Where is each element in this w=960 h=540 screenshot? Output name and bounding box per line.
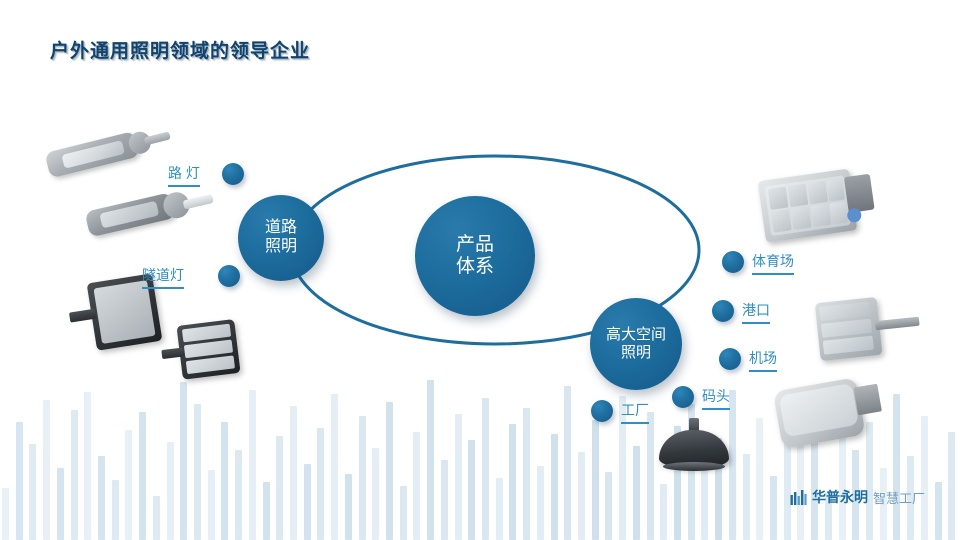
decor-bar (523, 408, 530, 540)
decor-bar (317, 428, 324, 540)
hub-highbay-line1: 高大空间 (606, 326, 666, 344)
decor-bar (441, 460, 448, 540)
decor-bar (372, 448, 379, 540)
decor-bar (948, 432, 955, 540)
decor-bar (592, 420, 599, 540)
decor-bar (605, 472, 612, 540)
hub-road-line2: 照明 (265, 238, 297, 257)
hub-road-lighting[interactable]: 道路 照明 (238, 195, 324, 281)
decor-bar (263, 482, 270, 540)
decor-bar (235, 450, 242, 540)
logo-brand-name: 华普永明 (812, 487, 868, 507)
decor-bar (551, 434, 558, 540)
decor-bar (304, 464, 311, 540)
label-tunnel-light[interactable]: 隧道灯 (142, 265, 184, 289)
decor-bar (496, 478, 503, 540)
decor-bar (482, 398, 489, 540)
decor-bar (756, 418, 763, 540)
hub-center-line2: 体系 (456, 256, 494, 278)
decor-bar (743, 454, 750, 540)
hub-highbay-line2: 照明 (606, 344, 666, 362)
decor-bar (180, 382, 187, 540)
decor-bar (935, 482, 942, 540)
decor-bar (455, 414, 462, 540)
node-tunnel-light[interactable] (218, 265, 240, 287)
decor-bar (112, 480, 119, 540)
product-stadium-light-1 (757, 161, 896, 254)
decor-bar (468, 440, 475, 540)
product-tunnel-light-2 (159, 316, 266, 390)
label-factory[interactable]: 工厂 (621, 400, 649, 424)
decor-bar (400, 486, 407, 540)
decor-bar (345, 474, 352, 540)
node-airport[interactable] (719, 348, 741, 370)
product-stadium-light-2 (815, 289, 942, 373)
decor-bar (2, 488, 9, 540)
decor-bar (29, 444, 36, 540)
hub-center-line1: 产品 (456, 234, 494, 256)
decor-bar (386, 402, 393, 540)
product-high-bay-lamp (655, 418, 733, 480)
decor-bar (249, 390, 256, 540)
node-stadium[interactable] (722, 251, 744, 273)
hub-high-bay-lighting[interactable]: 高大空间 照明 (590, 298, 682, 390)
brand-logo: 华普永明 智慧工厂 (790, 487, 925, 507)
slide-canvas: 户外通用照明领域的领导企业 (0, 0, 960, 540)
building-bars-icon (790, 489, 807, 506)
decor-bar (564, 386, 571, 540)
page-title: 户外通用照明领域的领导企业 (50, 36, 310, 63)
decor-bar (276, 436, 283, 540)
decor-bar (125, 430, 132, 540)
decor-bar (208, 470, 215, 540)
decor-bar (647, 412, 654, 540)
label-airport[interactable]: 机场 (749, 348, 777, 372)
decor-bar (84, 392, 91, 540)
label-street-light[interactable]: 路 灯 (168, 163, 200, 187)
decor-bar (71, 410, 78, 540)
hub-product-system[interactable]: 产品 体系 (415, 196, 535, 316)
decor-bar (290, 406, 297, 540)
decor-bar (660, 484, 667, 540)
node-street-light[interactable] (222, 163, 244, 185)
decor-bar (359, 416, 366, 540)
decor-bar (770, 476, 777, 540)
node-port[interactable] (712, 300, 734, 322)
label-port[interactable]: 港口 (742, 300, 770, 324)
hub-road-line1: 道路 (265, 219, 297, 238)
decor-bar (194, 404, 201, 540)
decor-bar (167, 442, 174, 540)
decor-bar (221, 422, 228, 540)
label-stadium[interactable]: 体育场 (752, 251, 794, 275)
decor-bar (331, 394, 338, 540)
decor-bar (509, 424, 516, 540)
decor-bar (98, 456, 105, 540)
decor-bar (43, 400, 50, 540)
decor-bar (578, 452, 585, 540)
decor-bar (413, 432, 420, 540)
logo-sub-name: 智慧工厂 (873, 488, 925, 507)
decor-bar (427, 380, 434, 540)
decor-bar (139, 412, 146, 540)
decor-bar (633, 446, 640, 540)
label-wharf[interactable]: 码头 (702, 386, 730, 410)
decor-bar (537, 466, 544, 540)
node-wharf[interactable] (672, 386, 694, 408)
decor-bar (57, 468, 64, 540)
decor-bar (16, 422, 23, 540)
decor-bar (921, 416, 928, 540)
decor-bar (153, 496, 160, 540)
node-factory[interactable] (591, 400, 613, 422)
